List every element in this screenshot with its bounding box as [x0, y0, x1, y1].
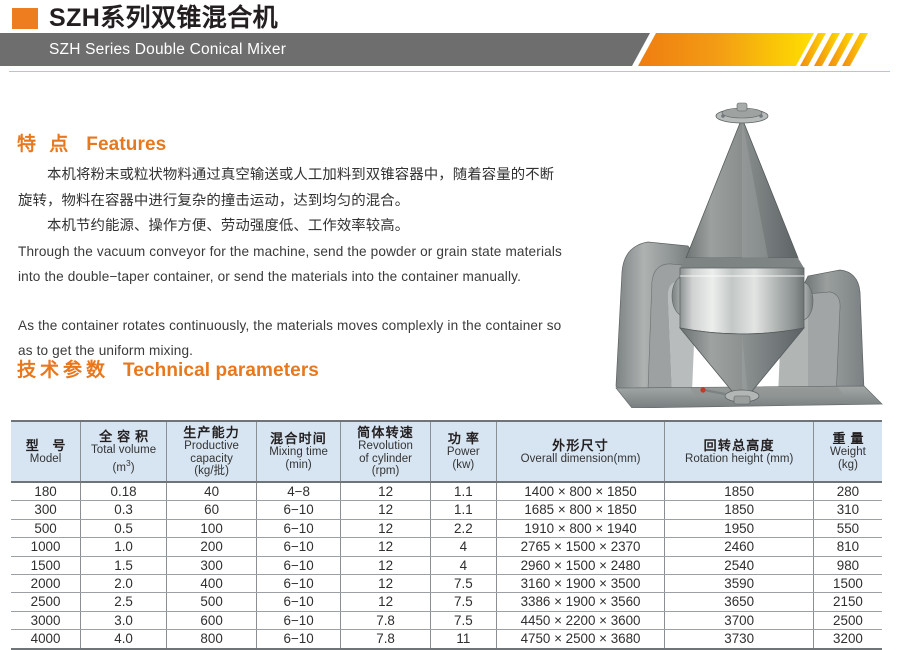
table-cell-r5-c4: 12	[341, 575, 431, 593]
table-cell-r2-c6: 1910 × 800 × 1940	[496, 519, 665, 537]
table-cell-r1-c5: 1.1	[431, 501, 497, 519]
table-cell-r0-c5: 1.1	[431, 482, 497, 501]
column-header-en: (kg/批)	[168, 465, 255, 478]
table-column-header-4: 简体转速Revolutionof cylinder(rpm)	[341, 421, 431, 482]
column-header-en: of cylinder	[342, 453, 429, 466]
table-cell-r2-c3: 6−10	[257, 519, 341, 537]
table-body: 1800.18404−8121.11400 × 800 × 1850185028…	[11, 482, 882, 649]
table-column-header-7: 回转总高度Rotation height (mm)	[665, 421, 813, 482]
table-cell-r3-c1: 1.0	[81, 538, 167, 556]
column-header-cn: 回转总高度	[666, 438, 811, 453]
column-header-en: Mixing time	[258, 446, 339, 459]
column-header-en: Revolution	[342, 440, 429, 453]
table-cell-r3-c3: 6−10	[257, 538, 341, 556]
table-cell-r0-c6: 1400 × 800 × 1850	[496, 482, 665, 501]
table-row: 3000.3606−10121.11685 × 800 × 1850185031…	[11, 501, 882, 519]
column-header-cn: 外形尺寸	[498, 438, 664, 453]
table-cell-r5-c8: 1500	[813, 575, 882, 593]
table-cell-r6-c0: 2500	[11, 593, 81, 611]
table-cell-r1-c2: 60	[167, 501, 257, 519]
table-cell-r4-c5: 4	[431, 556, 497, 574]
table-cell-r3-c7: 2460	[665, 538, 813, 556]
table-cell-r7-c7: 3700	[665, 611, 813, 629]
column-header-cn: 型 号	[12, 438, 79, 453]
features-heading-en: Features	[86, 134, 166, 156]
table-column-header-3: 混合时间Mixing time(min)	[257, 421, 341, 482]
features-heading-cn: 特 点	[17, 129, 72, 156]
table-cell-r1-c7: 1850	[665, 501, 813, 519]
column-header-en: Total volume	[82, 444, 165, 457]
table-cell-r3-c0: 1000	[11, 538, 81, 556]
page-header: SZH系列双锥混合机 SZH Series Double Conical Mix…	[0, 0, 900, 78]
table-cell-r7-c5: 7.5	[431, 611, 497, 629]
table-cell-r6-c5: 7.5	[431, 593, 497, 611]
table-cell-r3-c8: 810	[813, 538, 882, 556]
header-title-row: SZH系列双锥混合机	[0, 2, 278, 34]
table-cell-r7-c6: 4450 × 2200 × 3600	[496, 611, 665, 629]
features-cn-paragraph-2: 本机节约能源、操作方便、劳动强度低、工作效率较高。	[18, 214, 558, 240]
table-cell-r3-c2: 200	[167, 538, 257, 556]
table-cell-r0-c8: 280	[813, 482, 882, 501]
table-cell-r1-c0: 300	[11, 501, 81, 519]
table-cell-r5-c2: 400	[167, 575, 257, 593]
column-header-cn: 生产能力	[168, 425, 255, 440]
page-title-cn: SZH系列双锥混合机	[49, 4, 278, 32]
table-cell-r1-c6: 1685 × 800 × 1850	[496, 501, 665, 519]
header-divider	[9, 71, 890, 72]
table-cell-r4-c1: 1.5	[81, 556, 167, 574]
table-cell-r5-c5: 7.5	[431, 575, 497, 593]
table-cell-r4-c4: 12	[341, 556, 431, 574]
table-cell-r6-c2: 500	[167, 593, 257, 611]
table-cell-r1-c1: 0.3	[81, 501, 167, 519]
table-cell-r1-c4: 12	[341, 501, 431, 519]
table-column-header-1: 全容积Total volume(m3)	[81, 421, 167, 482]
table-cell-r3-c4: 12	[341, 538, 431, 556]
column-header-en: Model	[12, 453, 79, 466]
table-cell-r5-c1: 2.0	[81, 575, 167, 593]
table-cell-r6-c4: 12	[341, 593, 431, 611]
technical-heading-cn: 技术参数	[17, 355, 109, 382]
table-cell-r5-c6: 3160 × 1900 × 3500	[496, 575, 665, 593]
page-title-en: SZH Series Double Conical Mixer	[49, 38, 286, 61]
table-cell-r2-c4: 12	[341, 519, 431, 537]
table-row: 30003.06006−107.87.54450 × 2200 × 360037…	[11, 611, 882, 629]
table-column-header-8: 重量Weight(kg)	[813, 421, 882, 482]
table-cell-r4-c3: 6−10	[257, 556, 341, 574]
table-cell-r3-c5: 4	[431, 538, 497, 556]
table-row: 1800.18404−8121.11400 × 800 × 1850185028…	[11, 482, 882, 501]
column-header-en: Weight	[815, 446, 881, 459]
features-en-paragraph-1: Through the vacuum conveyor for the mach…	[18, 240, 563, 289]
table-row: 20002.04006−10127.53160 × 1900 × 3500359…	[11, 575, 882, 593]
table-column-header-5: 功率Power(kw)	[431, 421, 497, 482]
table-cell-r7-c2: 600	[167, 611, 257, 629]
column-header-cn: 简体转速	[342, 425, 429, 440]
column-header-cn: 全容积	[82, 429, 165, 444]
column-header-en: Rotation height (mm)	[666, 453, 811, 466]
table-cell-r1-c8: 310	[813, 501, 882, 519]
table-row: 10001.02006−101242765 × 1500 × 237024608…	[11, 538, 882, 556]
table-cell-r6-c7: 3650	[665, 593, 813, 611]
table-cell-r5-c0: 2000	[11, 575, 81, 593]
table-cell-r0-c7: 1850	[665, 482, 813, 501]
column-header-en: Power	[432, 446, 495, 459]
table-cell-r4-c0: 1500	[11, 556, 81, 574]
table-cell-r7-c1: 3.0	[81, 611, 167, 629]
table-cell-r4-c8: 980	[813, 556, 882, 574]
features-cn-paragraph-1: 本机将粉末或粒状物料通过真空输送或人工加料到双锥容器中，随着容量的不断旋转，物料…	[18, 163, 558, 214]
table-column-header-2: 生产能力Productivecapacity(kg/批)	[167, 421, 257, 482]
table-cell-r7-c3: 6−10	[257, 611, 341, 629]
column-header-en: Productive	[168, 440, 255, 453]
table-cell-r6-c3: 6−10	[257, 593, 341, 611]
table-cell-r7-c4: 7.8	[341, 611, 431, 629]
table-cell-r2-c8: 550	[813, 519, 882, 537]
features-heading: 特 点 Features	[17, 129, 166, 156]
table-cell-r2-c1: 0.5	[81, 519, 167, 537]
table-cell-r6-c8: 2150	[813, 593, 882, 611]
column-header-en: (kg)	[815, 459, 881, 472]
column-header-cn: 重量	[815, 431, 881, 446]
table-cell-r6-c6: 3386 × 1900 × 3560	[496, 593, 665, 611]
table-header-row: 型 号Model全容积Total volume(m3)生产能力Productiv…	[11, 421, 882, 482]
table-column-header-0: 型 号Model	[11, 421, 81, 482]
column-header-cn: 功率	[432, 431, 495, 446]
technical-heading-en: Technical parameters	[123, 360, 319, 382]
spec-table-wrapper: 型 号Model全容积Total volume(m3)生产能力Productiv…	[11, 420, 882, 650]
table-cell-r2-c0: 500	[11, 519, 81, 537]
table-cell-r7-c8: 2500	[813, 611, 882, 629]
table-cell-r0-c2: 40	[167, 482, 257, 501]
column-header-en: Overall dimension(mm)	[498, 453, 664, 466]
table-cell-r2-c7: 1950	[665, 519, 813, 537]
technical-parameters-heading: 技术参数 Technical parameters	[17, 355, 319, 382]
table-cell-r6-c1: 2.5	[81, 593, 167, 611]
product-photo	[592, 96, 892, 408]
column-header-en: (min)	[258, 459, 339, 472]
column-header-cn: 混合时间	[258, 431, 339, 446]
table-cell-r4-c7: 2540	[665, 556, 813, 574]
table-cell-r4-c2: 300	[167, 556, 257, 574]
table-row: 25002.55006−10127.53386 × 1900 × 3560365…	[11, 593, 882, 611]
table-cell-r7-c0: 3000	[11, 611, 81, 629]
column-header-en: (m3)	[82, 457, 165, 474]
column-header-en: (kw)	[432, 459, 495, 472]
table-cell-r0-c1: 0.18	[81, 482, 167, 501]
table-cell-r0-c0: 180	[11, 482, 81, 501]
table-row: 15001.53006−101242960 × 1500 × 248025409…	[11, 556, 882, 574]
table-row: 5000.51006−10122.21910 × 800 × 194019505…	[11, 519, 882, 537]
table-cell-r5-c7: 3590	[665, 575, 813, 593]
table-cell-r2-c5: 2.2	[431, 519, 497, 537]
column-header-en: (rpm)	[342, 465, 429, 478]
table-cell-r3-c6: 2765 × 1500 × 2370	[496, 538, 665, 556]
table-cell-r4-c6: 2960 × 1500 × 2480	[496, 556, 665, 574]
spec-table: 型 号Model全容积Total volume(m3)生产能力Productiv…	[11, 420, 882, 650]
table-column-header-6: 外形尺寸Overall dimension(mm)	[496, 421, 665, 482]
table-cell-r0-c3: 4−8	[257, 482, 341, 501]
table-cell-r0-c4: 12	[341, 482, 431, 501]
orange-square-marker	[12, 8, 38, 29]
column-header-en: capacity	[168, 453, 255, 466]
table-cell-r1-c3: 6−10	[257, 501, 341, 519]
table-cell-r2-c2: 100	[167, 519, 257, 537]
table-cell-r5-c3: 6−10	[257, 575, 341, 593]
